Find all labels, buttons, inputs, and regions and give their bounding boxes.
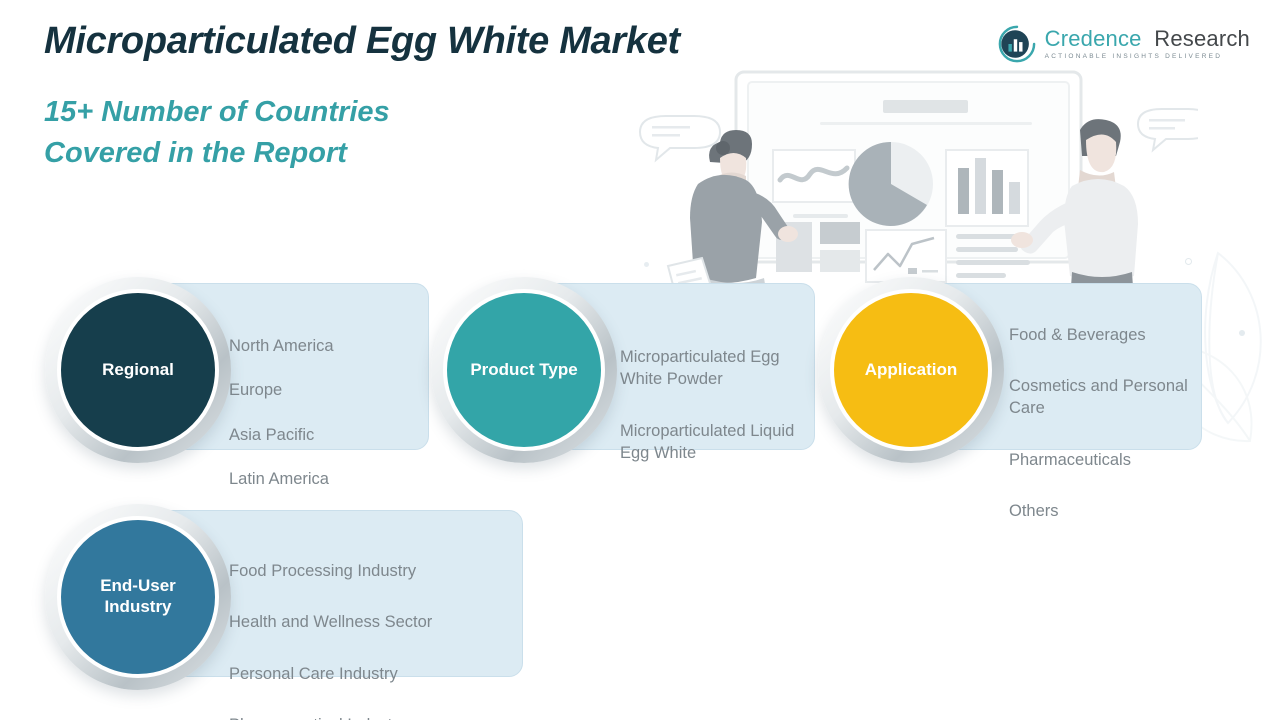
- card-application-label: Application: [865, 360, 958, 381]
- card-end-user-industry-label: End-User Industry: [100, 576, 176, 617]
- card-end-user-industry-label-bubble: End-User Industry: [57, 516, 219, 678]
- list-item: Food Processing Industry: [229, 561, 529, 583]
- business-presentation-illustration: [628, 62, 1198, 302]
- page-title: Microparticulated Egg White Market: [44, 20, 680, 63]
- card-product-type-label-bubble: Product Type: [443, 289, 605, 451]
- card-product-type-circle[interactable]: Product Type: [431, 277, 617, 463]
- list-item: Microparticulated Liquid Egg White: [620, 421, 810, 465]
- list-item: Cosmetics and Personal Care: [1009, 376, 1199, 420]
- card-end-user-industry-list: Food Processing Industry Health and Well…: [229, 539, 529, 720]
- list-item: Asia Pacific: [229, 425, 429, 447]
- brand-logo[interactable]: Credence Research Actionable Insights De…: [998, 25, 1250, 63]
- list-item: Pharmaceuticals: [1009, 450, 1199, 472]
- list-item: Latin America: [229, 469, 429, 491]
- page-subtitle: 15+ Number of Countries Covered in the R…: [44, 92, 390, 174]
- card-regional-label: Regional: [102, 360, 174, 381]
- list-item: Food & Beverages: [1009, 325, 1199, 347]
- card-regional-circle[interactable]: Regional: [45, 277, 231, 463]
- logo-wordmark: Credence Research: [1045, 28, 1250, 50]
- card-product-type-label: Product Type: [470, 360, 577, 381]
- dot-decoration: [1239, 330, 1245, 336]
- list-item: Health and Wellness Sector: [229, 612, 529, 634]
- logo-text: Credence Research Actionable Insights De…: [1045, 28, 1250, 61]
- logo-tagline: Actionable Insights Delivered: [1045, 54, 1250, 61]
- infographic-slide: Microparticulated Egg White Market 15+ N…: [0, 0, 1280, 720]
- card-regional-label-bubble: Regional: [57, 289, 219, 451]
- list-item: Others: [1009, 501, 1199, 523]
- card-end-user-industry-circle[interactable]: End-User Industry: [45, 504, 231, 690]
- dot-decoration: [644, 262, 649, 267]
- card-application-list: Food & Beverages Cosmetics and Personal …: [1009, 303, 1199, 546]
- logo-word-research: Research: [1154, 26, 1250, 51]
- list-item: Personal Care Industry: [229, 664, 529, 686]
- card-product-type-list: Microparticulated Egg White Powder Micro…: [620, 325, 810, 487]
- list-item: Pharmaceutical Industry: [229, 715, 529, 720]
- bar-chart-circle-icon: [998, 25, 1036, 63]
- list-item: North America: [229, 336, 429, 358]
- card-application-circle[interactable]: Application: [818, 277, 1004, 463]
- card-application-label-bubble: Application: [830, 289, 992, 451]
- dot-decoration: [1185, 258, 1192, 265]
- subtitle-line-1: 15+ Number of Countries: [44, 92, 390, 133]
- list-item: Europe: [229, 380, 429, 402]
- subtitle-line-2: Covered in the Report: [44, 133, 390, 174]
- list-item: Microparticulated Egg White Powder: [620, 347, 810, 391]
- logo-word-credence: Credence: [1045, 26, 1142, 51]
